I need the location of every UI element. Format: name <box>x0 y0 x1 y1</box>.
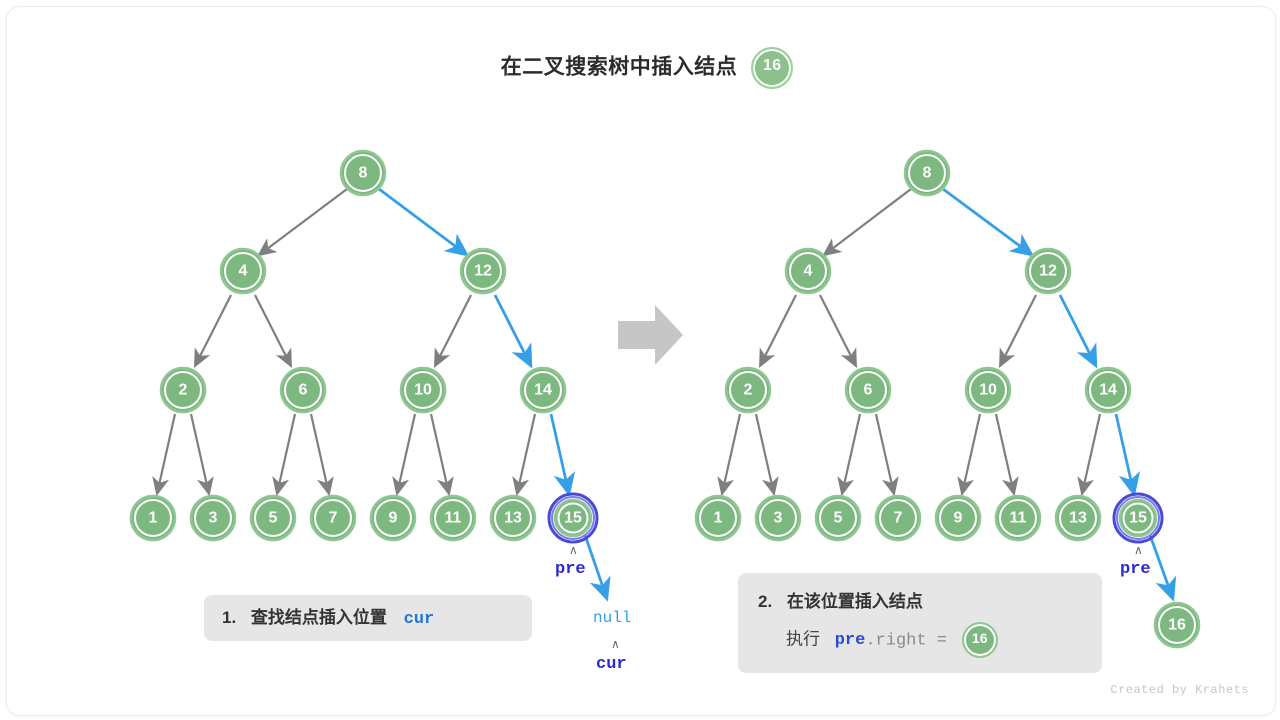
svg-text:7: 7 <box>894 510 903 527</box>
node-15-highlighted: 15 <box>549 494 597 542</box>
node-4: 4 <box>786 249 830 293</box>
null-label: null <box>593 609 631 627</box>
node-2: 2 <box>726 368 770 412</box>
caption-2-var: pre <box>835 631 866 650</box>
svg-text:16: 16 <box>1168 617 1186 634</box>
svg-text:6: 6 <box>864 382 873 399</box>
caption-2-prop: .right = <box>865 631 947 650</box>
pre-caret-icon-right: ∧ <box>1134 543 1143 557</box>
svg-text:3: 3 <box>774 510 783 527</box>
node-11: 11 <box>431 496 475 540</box>
caption-2-number: 2. <box>758 592 772 611</box>
svg-text:5: 5 <box>269 510 278 527</box>
cur-label: cur <box>596 655 627 674</box>
svg-text:10: 10 <box>414 382 432 399</box>
caption-1-text: 查找结点插入位置 <box>251 608 387 627</box>
left-tree-nodes: 8 4 12 2 6 10 14 1 3 5 7 9 11 13 15 <box>131 151 597 542</box>
svg-text:12: 12 <box>474 263 492 280</box>
svg-text:4: 4 <box>239 263 248 280</box>
svg-text:11: 11 <box>1010 510 1027 527</box>
svg-text:6: 6 <box>299 382 308 399</box>
svg-text:1: 1 <box>714 510 723 527</box>
svg-text:9: 9 <box>389 510 398 527</box>
svg-text:14: 14 <box>1099 382 1117 399</box>
svg-text:1: 1 <box>149 510 158 527</box>
svg-text:15: 15 <box>564 510 582 527</box>
node-15-highlighted: 15 <box>1114 494 1162 542</box>
node-6: 6 <box>281 368 325 412</box>
svg-text:13: 13 <box>504 510 522 527</box>
svg-text:3: 3 <box>209 510 218 527</box>
node-5: 5 <box>251 496 295 540</box>
right-arrow-icon <box>618 305 683 365</box>
svg-text:7: 7 <box>329 510 338 527</box>
caption-box-step-2: 2. 在该位置插入结点 执行 pre.right = 16 <box>738 573 1102 673</box>
svg-text:2: 2 <box>179 382 188 399</box>
node-4: 4 <box>221 249 265 293</box>
svg-text:11: 11 <box>445 510 462 527</box>
node-7: 7 <box>311 496 355 540</box>
node-8: 8 <box>905 151 949 195</box>
caption-2-line2-prefix: 执行 <box>786 629 820 648</box>
node-12: 12 <box>1026 249 1070 293</box>
caption-2-node-badge-16: 16 <box>962 622 998 658</box>
svg-text:13: 13 <box>1069 510 1087 527</box>
caption-1-code: cur <box>404 610 435 629</box>
node-1: 1 <box>131 496 175 540</box>
node-3: 3 <box>191 496 235 540</box>
node-13: 13 <box>491 496 535 540</box>
node-11: 11 <box>996 496 1040 540</box>
cur-caret-icon: ∧ <box>611 637 620 651</box>
svg-text:8: 8 <box>923 165 932 182</box>
node-1: 1 <box>696 496 740 540</box>
footer-credit: Created by Krahets <box>1110 683 1249 697</box>
svg-text:15: 15 <box>1129 510 1147 527</box>
pre-label-left: pre <box>555 560 586 579</box>
pre-caret-icon-left: ∧ <box>569 543 578 557</box>
node-9: 9 <box>371 496 415 540</box>
caption-1-number: 1. <box>222 608 236 627</box>
node-8: 8 <box>341 151 385 195</box>
diagram-card: 在二叉搜索树中插入结点16 <box>6 6 1276 716</box>
node-10: 10 <box>401 368 445 412</box>
svg-text:10: 10 <box>979 382 997 399</box>
svg-text:4: 4 <box>804 263 813 280</box>
caption-2-line1: 在该位置插入结点 <box>787 592 923 611</box>
svg-text:14: 14 <box>534 382 552 399</box>
svg-text:9: 9 <box>954 510 963 527</box>
node-3: 3 <box>756 496 800 540</box>
caption-box-step-1: 1. 查找结点插入位置 cur <box>204 595 532 641</box>
node-12: 12 <box>461 249 505 293</box>
svg-text:8: 8 <box>359 165 368 182</box>
pre-label-right: pre <box>1120 560 1151 579</box>
svg-text:2: 2 <box>744 382 753 399</box>
node-14: 14 <box>1086 368 1130 412</box>
node-7: 7 <box>876 496 920 540</box>
node-13: 13 <box>1056 496 1100 540</box>
node-10: 10 <box>966 368 1010 412</box>
node-14: 14 <box>521 368 565 412</box>
svg-text:12: 12 <box>1039 263 1057 280</box>
svg-text:5: 5 <box>834 510 843 527</box>
node-2: 2 <box>161 368 205 412</box>
node-9: 9 <box>936 496 980 540</box>
node-16-inserted: 16 <box>1155 603 1199 647</box>
node-5: 5 <box>816 496 860 540</box>
node-6: 6 <box>846 368 890 412</box>
